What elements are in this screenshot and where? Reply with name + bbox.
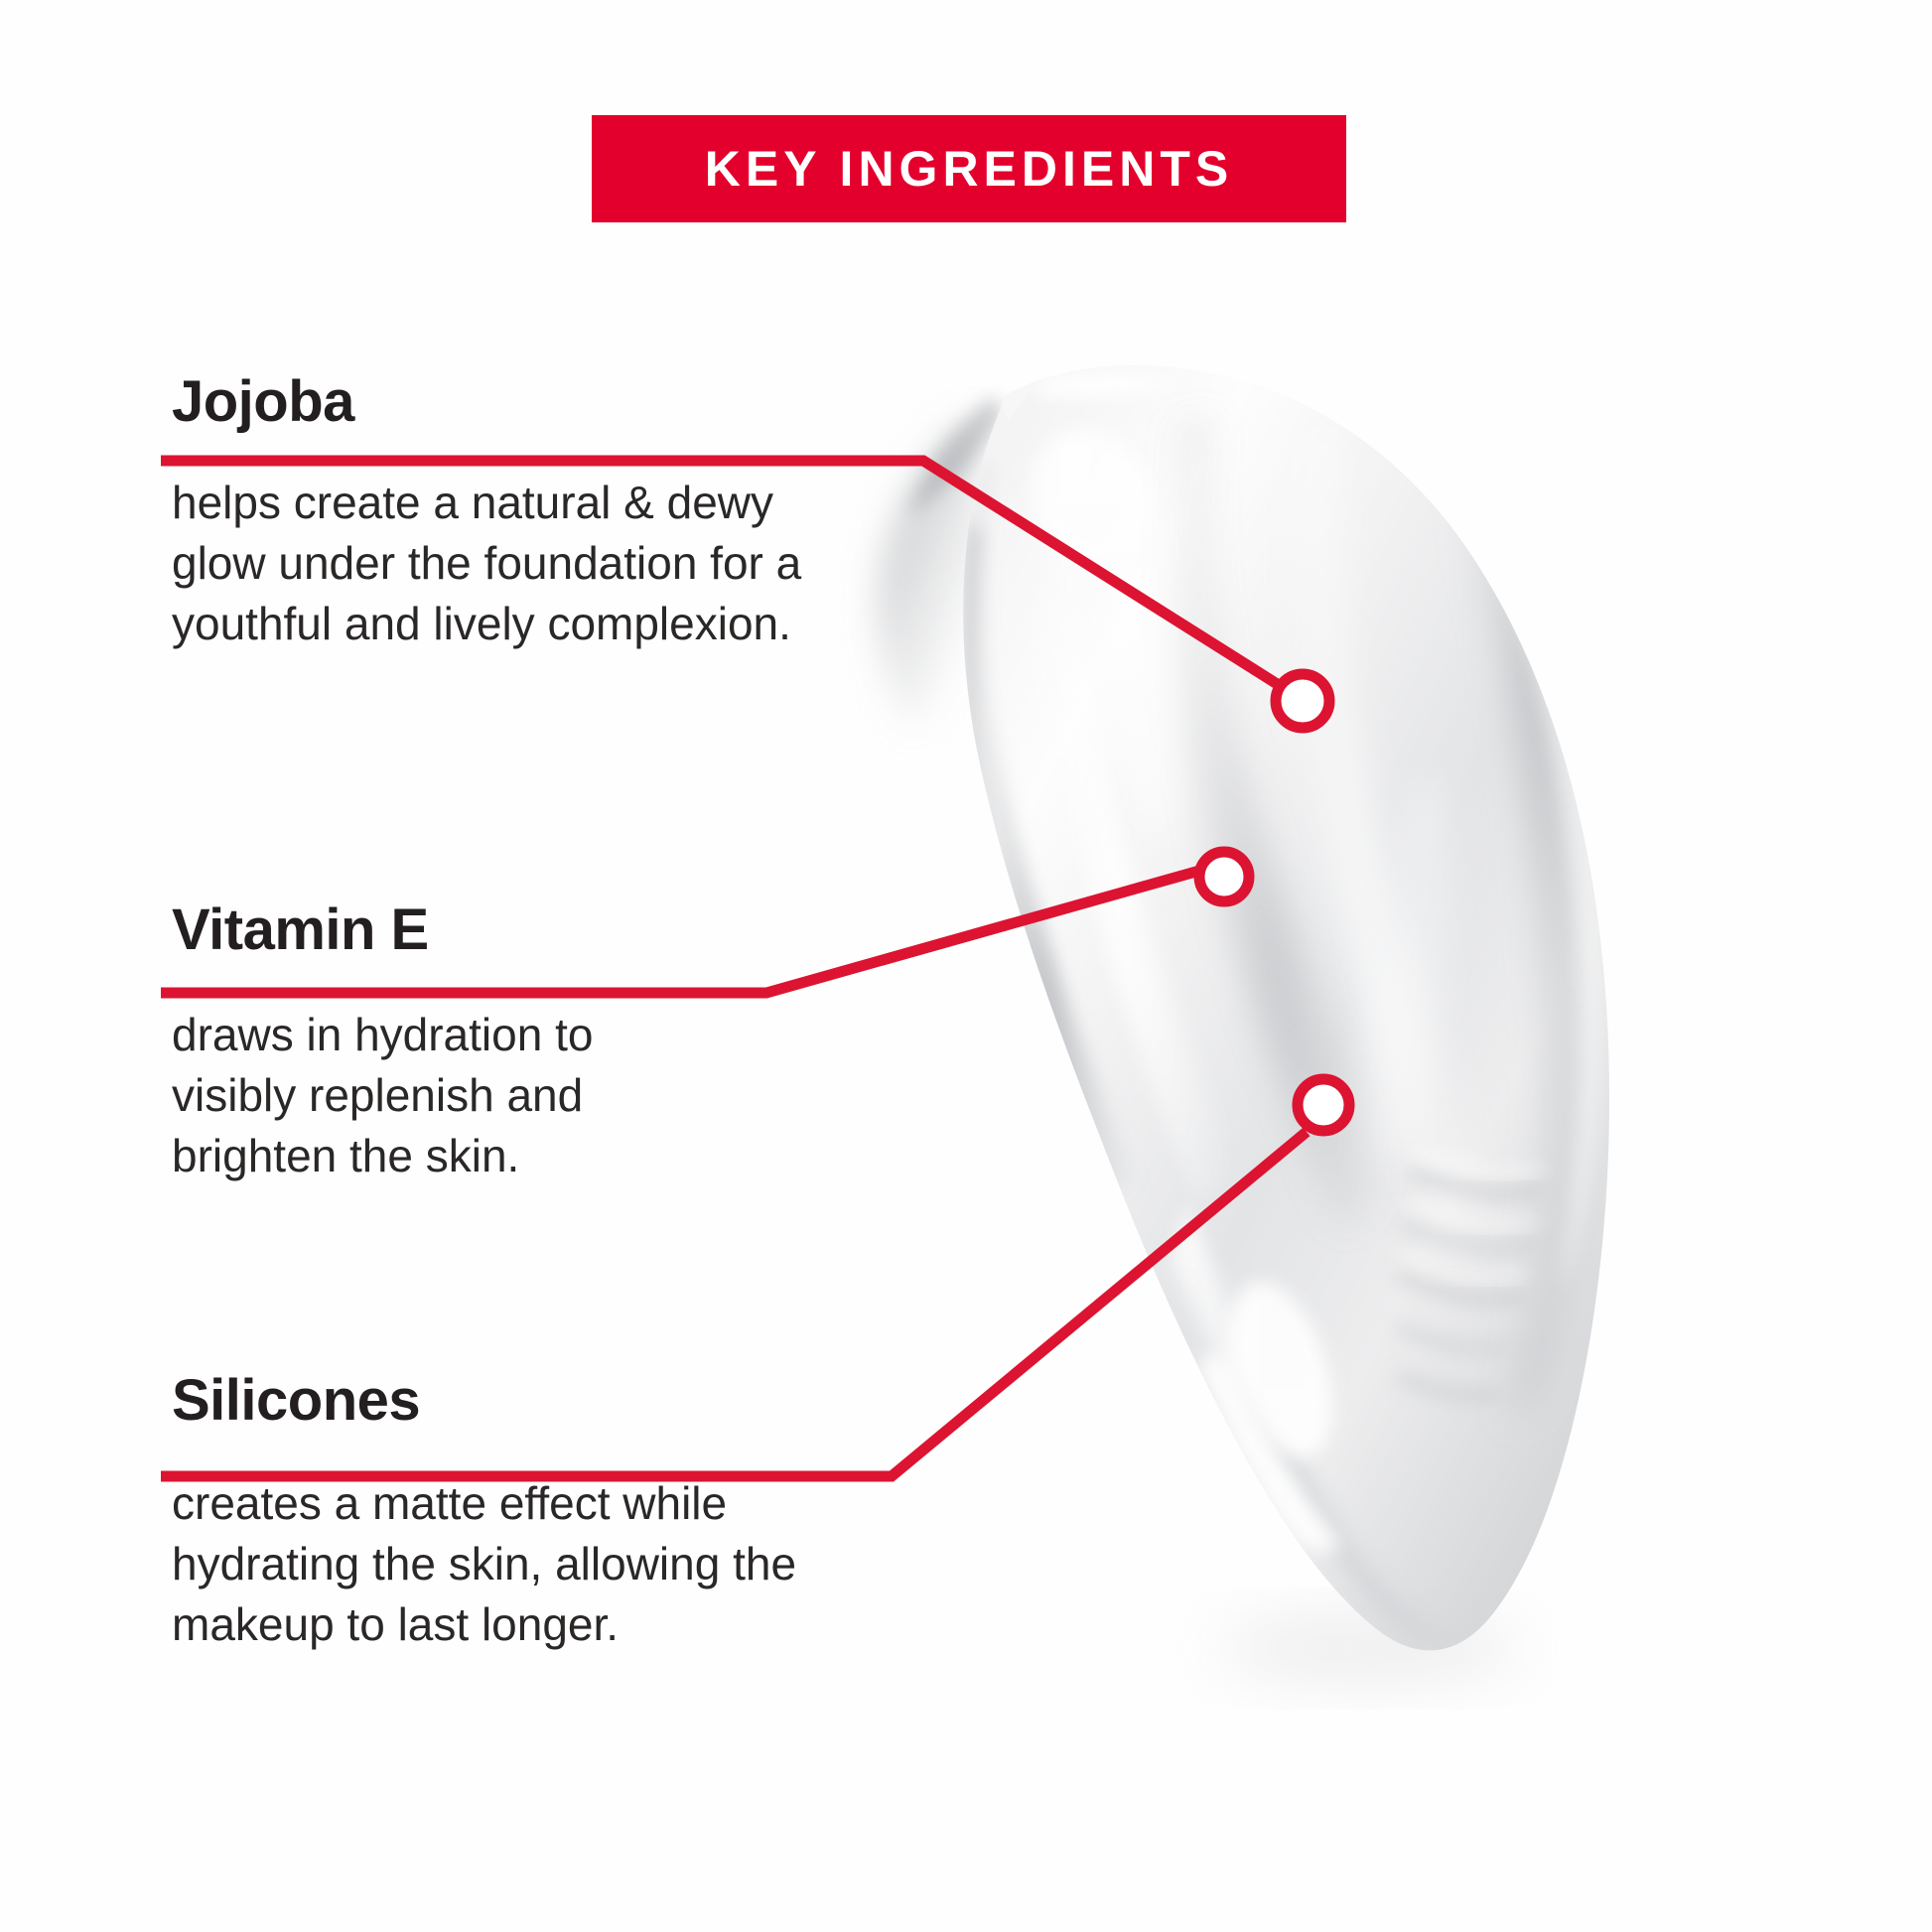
ingredient-body-line: draws in hydration to xyxy=(172,1005,593,1065)
ingredient-body-vitamin-e: draws in hydration to visibly replenish … xyxy=(172,1005,593,1187)
ingredient-title-vitamin-e: Vitamin E xyxy=(172,901,593,959)
ingredient-title-jojoba: Jojoba xyxy=(172,373,801,431)
ingredient-body-line: visibly replenish and xyxy=(172,1065,593,1126)
swatch-ground-shadow xyxy=(1221,1614,1519,1682)
ingredient-body-silicones: creates a matte effect while hydrating t… xyxy=(172,1473,796,1656)
key-ingredients-infographic: KEY INGREDIENTS Jojoba helps create a na… xyxy=(0,0,1932,1932)
ingredient-body-line: creates a matte effect while xyxy=(172,1473,796,1534)
ingredient-body-line: helps create a natural & dewy xyxy=(172,473,801,533)
ingredient-block-jojoba: Jojoba helps create a natural & dewy glo… xyxy=(172,373,801,655)
ingredient-body-line: makeup to last longer. xyxy=(172,1594,796,1655)
ingredient-body-line: hydrating the skin, allowing the xyxy=(172,1534,796,1594)
banner-title: KEY INGREDIENTS xyxy=(705,140,1234,198)
ingredient-body-line: youthful and lively complexion. xyxy=(172,594,801,654)
ingredient-body-line: glow under the foundation for a xyxy=(172,533,801,594)
key-ingredients-banner: KEY INGREDIENTS xyxy=(592,115,1346,222)
ingredient-title-silicones: Silicones xyxy=(172,1372,796,1430)
ingredient-body-line: brighten the skin. xyxy=(172,1126,593,1186)
ingredient-body-jojoba: helps create a natural & dewy glow under… xyxy=(172,473,801,655)
ingredient-block-vitamin-e: Vitamin E draws in hydration to visibly … xyxy=(172,901,593,1187)
ingredient-block-silicones: Silicones creates a matte effect while h… xyxy=(172,1372,796,1656)
